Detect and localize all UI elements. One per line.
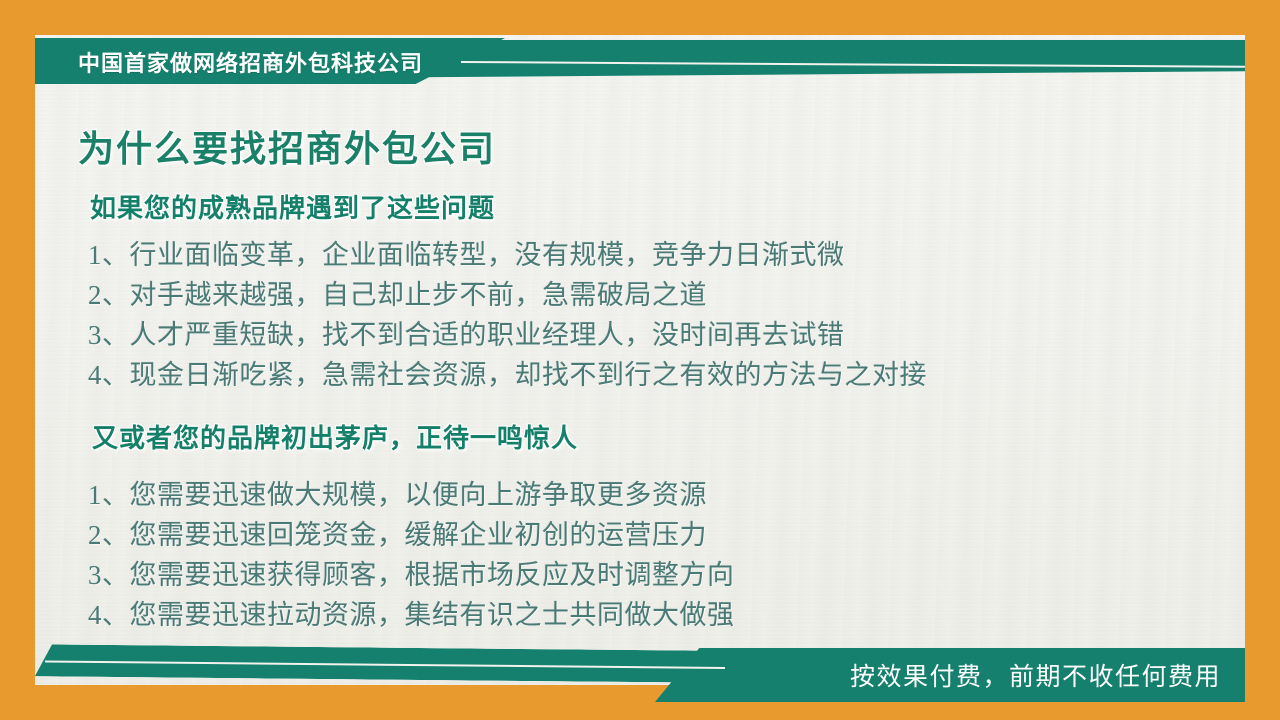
list-item: 3、人才严重短缺，找不到合适的职业经理人，没时间再去试错 (88, 315, 927, 355)
section-heading-mature-brand: 如果您的成熟品牌遇到了这些问题 (90, 188, 495, 225)
page-title: 为什么要找招商外包公司 (78, 120, 496, 172)
section-heading-new-brand: 又或者您的品牌初出茅庐，正待一鸣惊人 (92, 418, 578, 455)
list-item: 4、您需要迅速拉动资源，集结有识之士共同做大做强 (88, 595, 735, 635)
footer-slogan: 按效果付费，前期不收任何费用 (850, 657, 1221, 693)
list-item: 2、您需要迅速回笼资金，缓解企业初创的运营压力 (88, 515, 735, 555)
footer-banner: 按效果付费，前期不收任何费用 (35, 640, 1245, 702)
top-banner: 中国首家做网络招商外包科技公司 (35, 38, 1245, 84)
list-item: 1、行业面临变革，企业面临转型，没有规模，竞争力日渐式微 (88, 235, 927, 275)
list-item: 3、您需要迅速获得顾客，根据市场反应及时调整方向 (88, 555, 735, 595)
list-item: 4、现金日渐吃紧，急需社会资源，却找不到行之有效的方法与之对接 (88, 355, 927, 395)
company-tagline: 中国首家做网络招商外包科技公司 (78, 46, 423, 78)
need-list-new-brand: 1、您需要迅速做大规模，以便向上游争取更多资源 2、您需要迅速回笼资金，缓解企业… (88, 475, 735, 635)
list-item: 2、对手越来越强，自己却止步不前，急需破局之道 (88, 275, 927, 315)
slide-canvas: 中国首家做网络招商外包科技公司 为什么要找招商外包公司 如果您的成熟品牌遇到了这… (0, 0, 1280, 720)
problem-list-mature-brand: 1、行业面临变革，企业面临转型，没有规模，竞争力日渐式微 2、对手越来越强，自己… (88, 235, 927, 395)
list-item: 1、您需要迅速做大规模，以便向上游争取更多资源 (88, 475, 735, 515)
